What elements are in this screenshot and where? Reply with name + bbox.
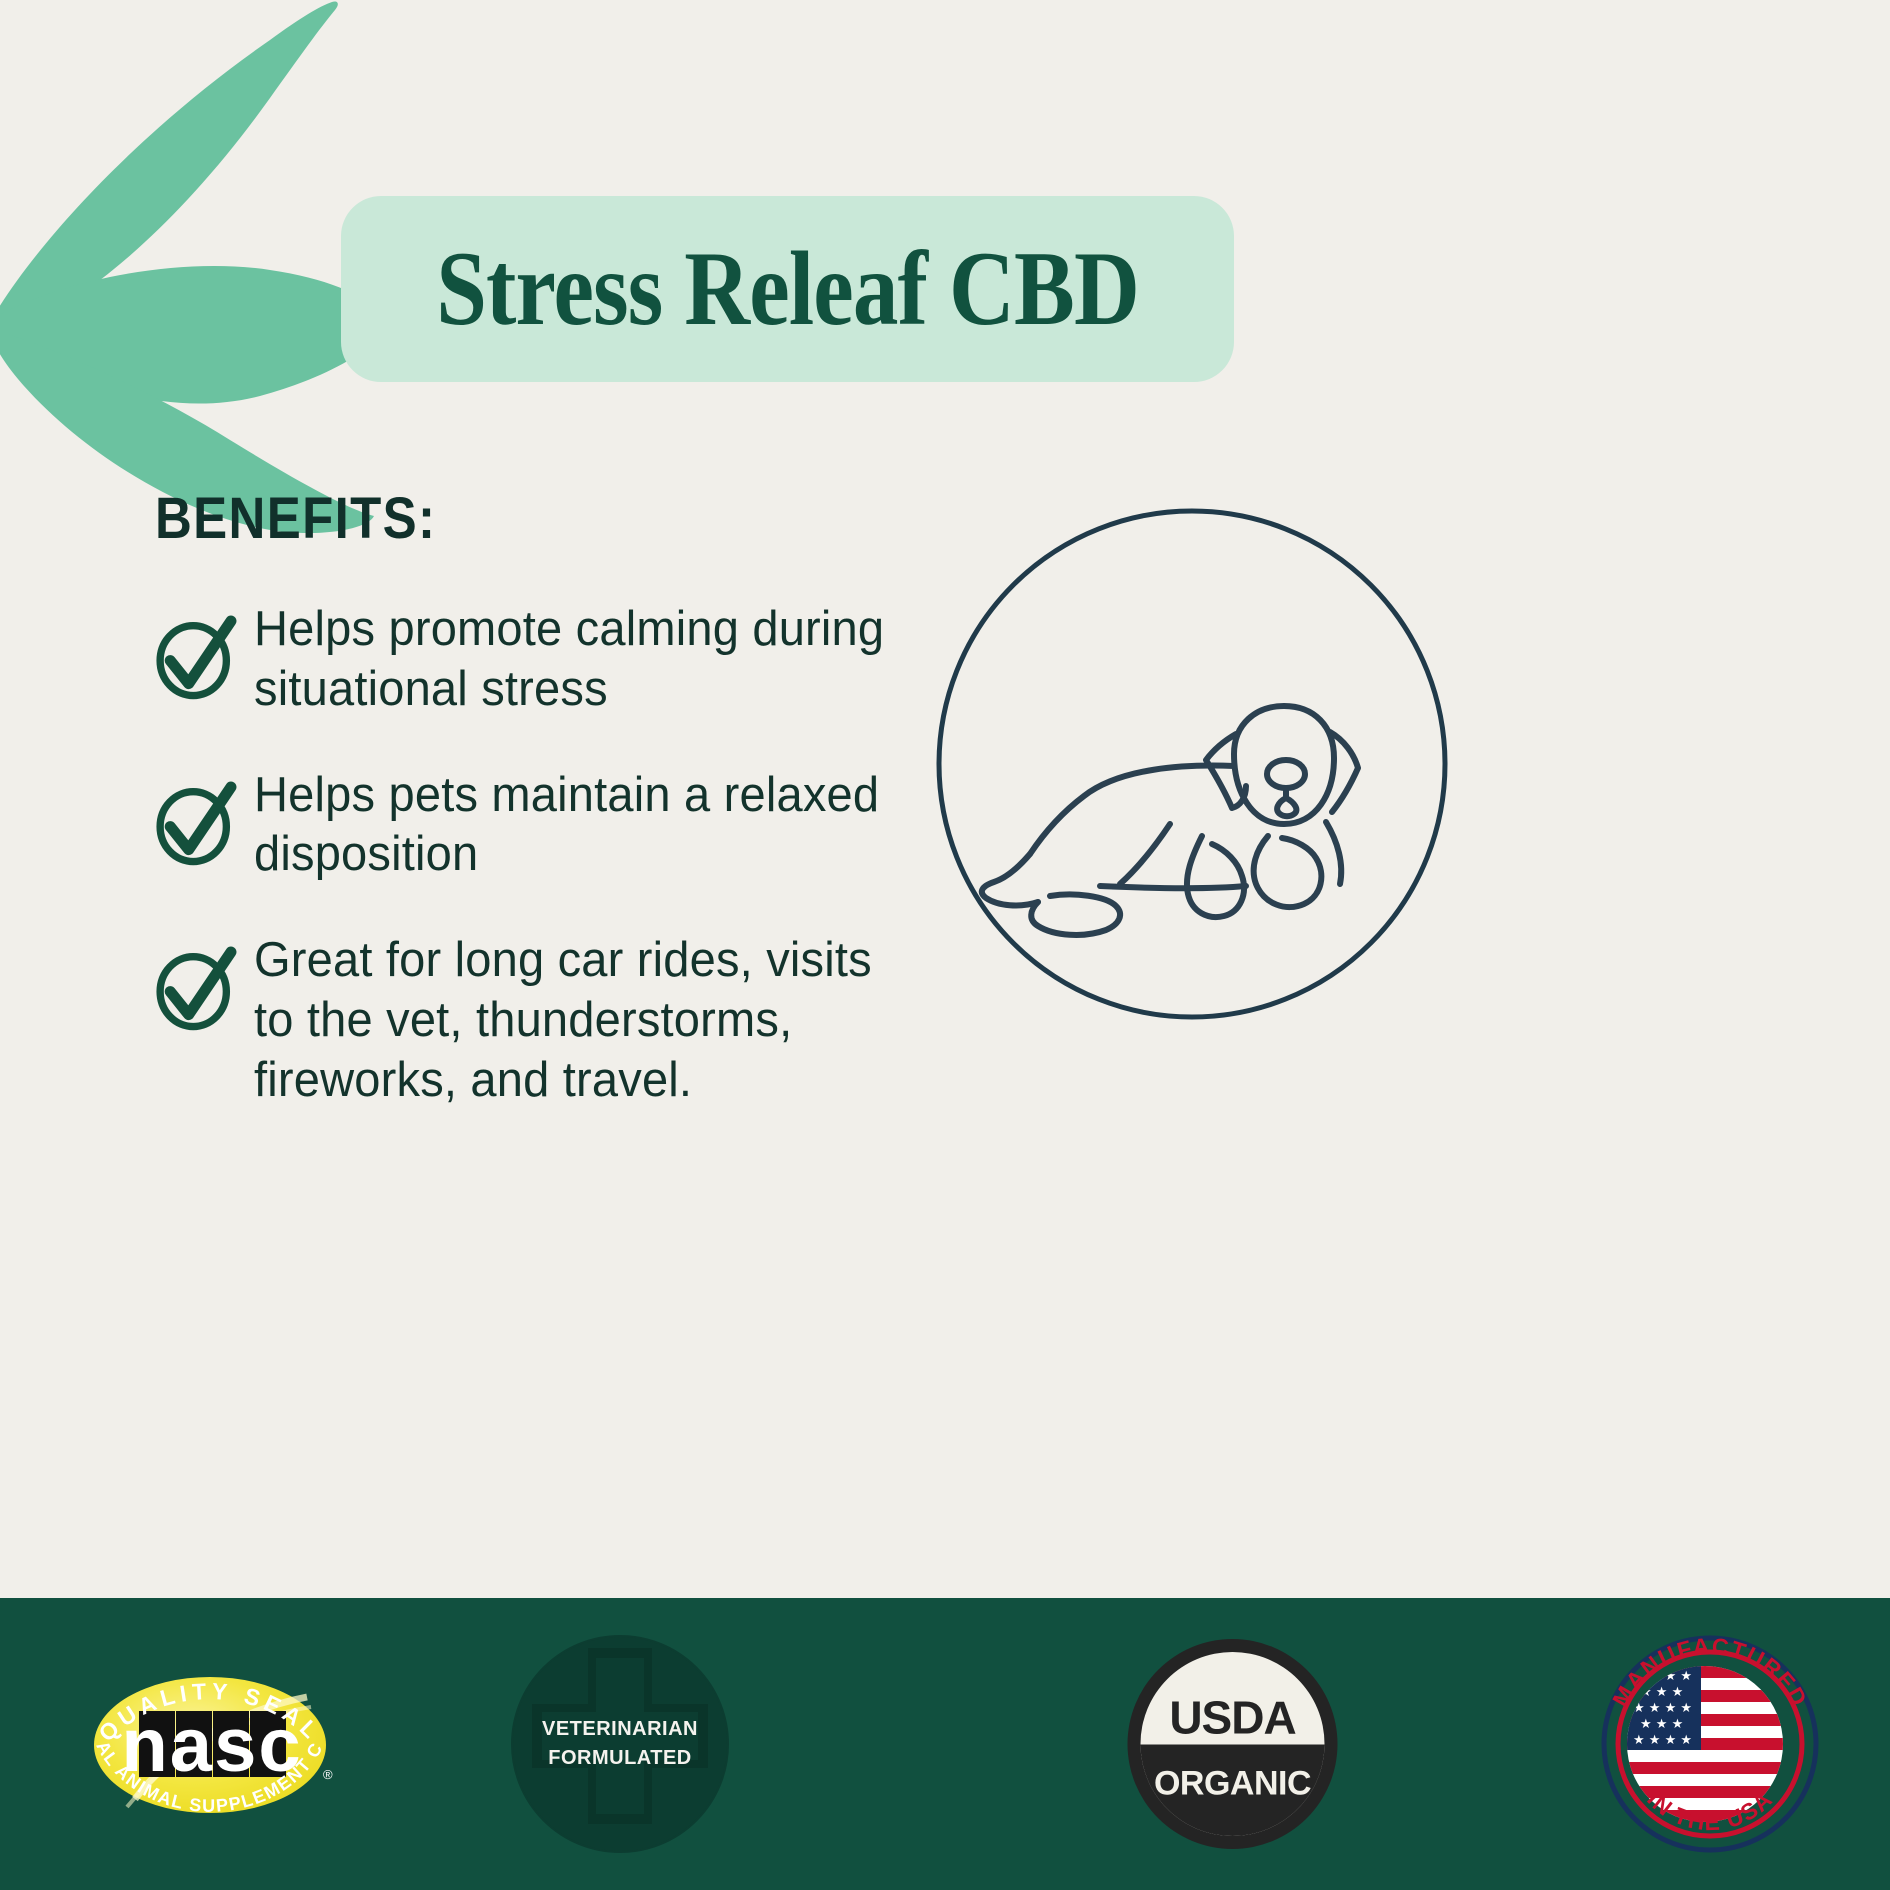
list-item: Helps pets maintain a relaxed dispositio… <box>150 766 940 886</box>
dog-illustration-circle <box>934 506 1450 1022</box>
footer-bar: nasc QUALITY SEAL NATIONAL ANIMAL SUPPLE… <box>0 1598 1890 1890</box>
svg-text:★ ★ ★: ★ ★ ★ <box>1640 1685 1683 1700</box>
infographic-page: Stress Releaf CBD BENEFITS: Helps promot… <box>0 0 1890 1890</box>
usda-line-2: ORGANIC <box>1154 1765 1311 1803</box>
page-title: Stress Releaf CBD <box>436 236 1139 342</box>
benefit-text: Great for long car rides, visits to the … <box>254 931 913 1110</box>
usda-line-1: USDA <box>1169 1692 1295 1744</box>
veterinarian-formulated-badge: VETERINARIAN FORMULATED <box>510 1634 730 1854</box>
benefit-text: Helps pets maintain a relaxed dispositio… <box>254 766 913 886</box>
check-circle-icon <box>150 941 242 1033</box>
manufactured-in-usa-badge: ★ ★ ★ ★ ★ ★ ★ ★ ★ ★ ★ ★ ★ ★ ★ ★ ★ ★ MANU… <box>1600 1634 1820 1854</box>
check-circle-icon <box>150 776 242 868</box>
title-pill: Stress Releaf CBD <box>341 196 1234 382</box>
usda-organic-badge: USDA ORGANIC <box>1125 1637 1340 1852</box>
benefits-heading: BENEFITS: <box>155 485 436 552</box>
check-circle-icon <box>150 610 242 702</box>
svg-text:★ ★ ★ ★: ★ ★ ★ ★ <box>1633 1701 1692 1716</box>
registered-mark: ® <box>323 1767 333 1782</box>
benefit-text: Helps promote calming during situational… <box>254 600 913 720</box>
list-item: Helps promote calming during situational… <box>150 600 940 720</box>
nasc-quality-seal-badge: nasc QUALITY SEAL NATIONAL ANIMAL SUPPLE… <box>75 1639 345 1849</box>
list-item: Great for long car rides, visits to the … <box>150 931 940 1110</box>
benefits-list: Helps promote calming during situational… <box>150 600 940 1156</box>
svg-text:★ ★ ★: ★ ★ ★ <box>1640 1717 1683 1732</box>
svg-text:★ ★ ★ ★: ★ ★ ★ ★ <box>1633 1733 1692 1748</box>
certification-badges: nasc QUALITY SEAL NATIONAL ANIMAL SUPPLE… <box>0 1598 1890 1890</box>
